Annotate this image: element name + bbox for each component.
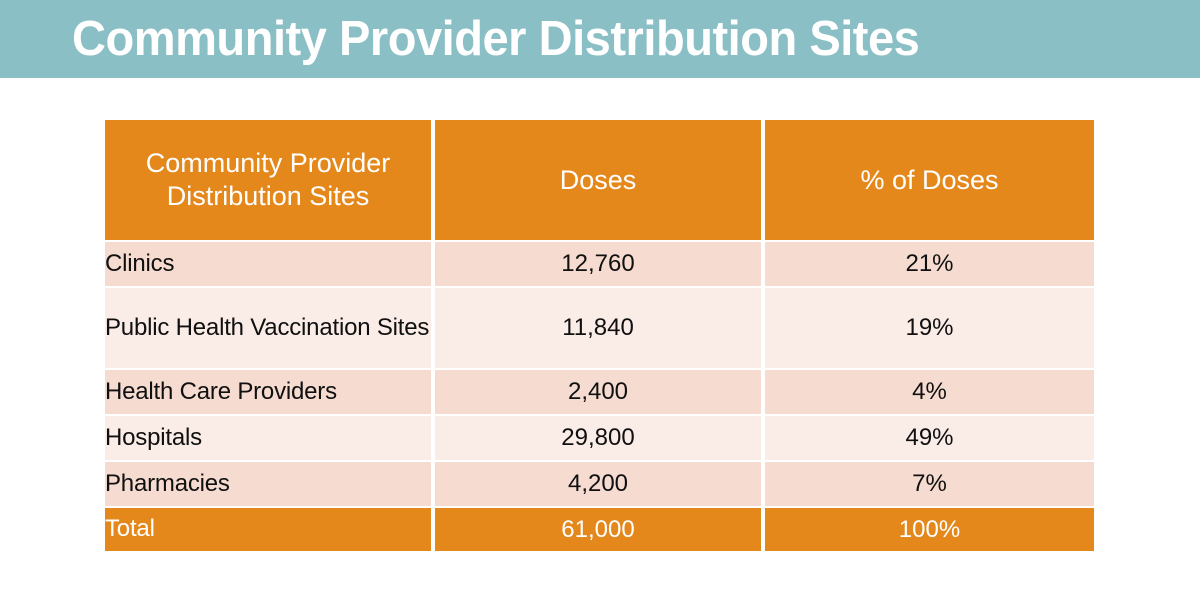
cell-pct-clinics: 21% — [765, 242, 1094, 288]
cell-doses-hospitals: 29,800 — [435, 416, 765, 462]
cell-doses-clinics: 12,760 — [435, 242, 765, 288]
cell-pct-hospitals: 49% — [765, 416, 1094, 462]
cell-site-health-care-providers: Health Care Providers — [105, 370, 435, 416]
cell-pct-pharmacies: 7% — [765, 462, 1094, 508]
cell-doses-public-health-vaccination-sites: 11,840 — [435, 288, 765, 370]
distribution-sites-table: Community Provider Distribution Sites Do… — [105, 120, 1094, 551]
cell-pct-public-health-vaccination-sites: 19% — [765, 288, 1094, 370]
table-row: Hospitals 29,800 49% — [105, 416, 1094, 462]
cell-doses-total: 61,000 — [435, 508, 765, 551]
cell-site-pharmacies: Pharmacies — [105, 462, 435, 508]
column-header-doses: Doses — [435, 120, 765, 242]
table-body: Clinics 12,760 21% Public Health Vaccina… — [105, 242, 1094, 551]
table-row: Public Health Vaccination Sites 11,840 1… — [105, 288, 1094, 370]
cell-site-hospitals: Hospitals — [105, 416, 435, 462]
table-header-row: Community Provider Distribution Sites Do… — [105, 120, 1094, 242]
column-header-pct-of-doses: % of Doses — [765, 120, 1094, 242]
cell-pct-total: 100% — [765, 508, 1094, 551]
table-row: Clinics 12,760 21% — [105, 242, 1094, 288]
cell-site-public-health-vaccination-sites: Public Health Vaccination Sites — [105, 288, 435, 370]
cell-doses-health-care-providers: 2,400 — [435, 370, 765, 416]
column-header-site: Community Provider Distribution Sites — [105, 120, 435, 242]
table-row-total: Total 61,000 100% — [105, 508, 1094, 551]
table-header: Community Provider Distribution Sites Do… — [105, 120, 1094, 242]
page-title: Community Provider Distribution Sites — [72, 15, 919, 64]
table-row: Pharmacies 4,200 7% — [105, 462, 1094, 508]
cell-site-total: Total — [105, 508, 435, 551]
cell-doses-pharmacies: 4,200 — [435, 462, 765, 508]
title-banner: Community Provider Distribution Sites — [0, 0, 1200, 78]
cell-pct-health-care-providers: 4% — [765, 370, 1094, 416]
table-row: Health Care Providers 2,400 4% — [105, 370, 1094, 416]
cell-site-clinics: Clinics — [105, 242, 435, 288]
